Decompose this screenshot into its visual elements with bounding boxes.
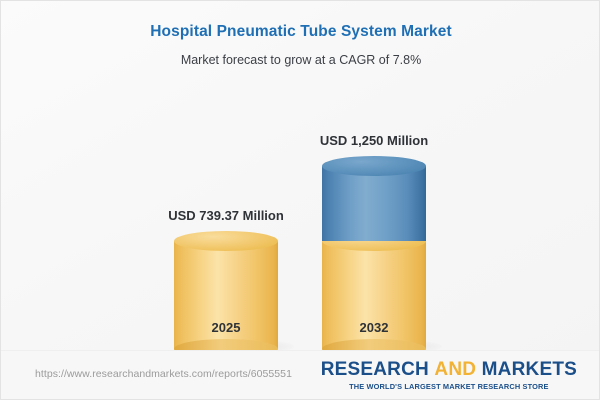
axis-category-label-2025: 2025 bbox=[174, 321, 278, 334]
chart-plot-area: USD 739.37 Million USD 1,250 Million bbox=[1, 1, 600, 349]
axis-category-label-2032: 2032 bbox=[322, 321, 426, 334]
segment-top-cap bbox=[322, 156, 426, 176]
brand-tagline: THE WORLD'S LARGEST MARKET RESEARCH STOR… bbox=[321, 383, 577, 390]
brand-word-and: AND bbox=[434, 359, 476, 380]
research-and-markets-logo[interactable]: RESEARCH AND MARKETS THE WORLD'S LARGEST… bbox=[321, 360, 577, 390]
market-forecast-infographic: Hospital Pneumatic Tube System Market Ma… bbox=[0, 0, 600, 400]
footer-bar: https://www.researchandmarkets.com/repor… bbox=[1, 350, 599, 399]
report-url-link[interactable]: https://www.researchandmarkets.com/repor… bbox=[35, 369, 292, 380]
brand-word-markets: MARKETS bbox=[482, 359, 577, 380]
segment-body bbox=[322, 166, 426, 241]
bar-value-label-2025: USD 739.37 Million bbox=[168, 209, 284, 222]
brand-wordmark: RESEARCH AND MARKETS bbox=[321, 360, 577, 379]
brand-word-research: RESEARCH bbox=[321, 359, 429, 380]
bar-value-label-2032: USD 1,250 Million bbox=[320, 134, 428, 147]
segment-top-cap bbox=[174, 231, 278, 251]
cylinder-segment-growth bbox=[322, 166, 426, 241]
